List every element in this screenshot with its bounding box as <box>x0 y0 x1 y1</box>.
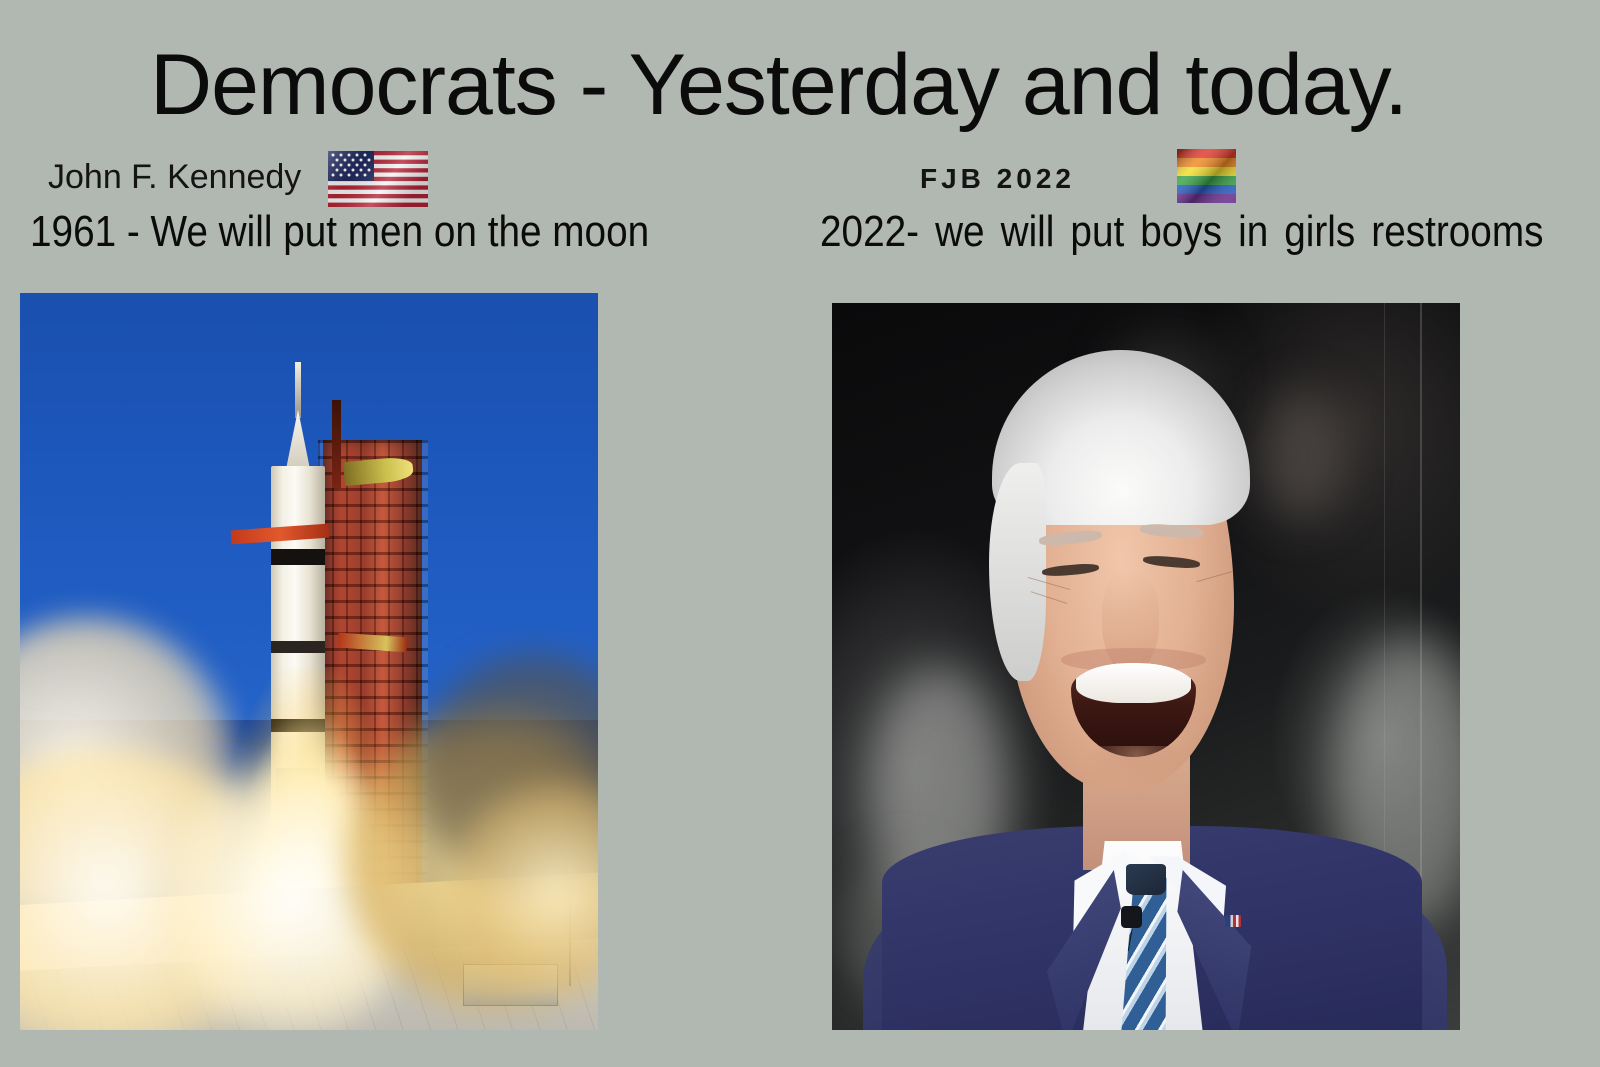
teeth <box>1076 663 1192 703</box>
chin <box>1083 746 1190 790</box>
page-title: Democrats - Yesterday and today. <box>150 40 1407 130</box>
rocket-band-1 <box>271 549 324 566</box>
left-person-label: John F. Kennedy <box>48 158 301 197</box>
rainbow-flag-svg <box>1177 149 1236 203</box>
right-quote: 2022- we will put boys in girls restroom… <box>820 207 1543 257</box>
right-person-label: FJB 2022 <box>920 163 1075 195</box>
apollo-saturn-v-launch-photo <box>20 293 598 1030</box>
rainbow-pride-flag-icon <box>1177 149 1236 203</box>
bokeh-light-3 <box>1259 390 1347 521</box>
american-flag-lapel-pin-icon <box>1225 915 1241 927</box>
necktie-knot <box>1126 864 1166 895</box>
tower-mast <box>332 400 341 488</box>
meme-canvas: Democrats - Yesterday and today. John F.… <box>0 0 1600 1067</box>
american-flag-icon <box>328 151 428 207</box>
left-quote: 1961 - We will put men on the moon <box>30 207 649 257</box>
rocket-band-2 <box>271 641 324 653</box>
joe-biden-laughing-photo <box>832 303 1460 1030</box>
escape-tower <box>295 362 301 417</box>
american-flag-svg <box>328 151 428 207</box>
